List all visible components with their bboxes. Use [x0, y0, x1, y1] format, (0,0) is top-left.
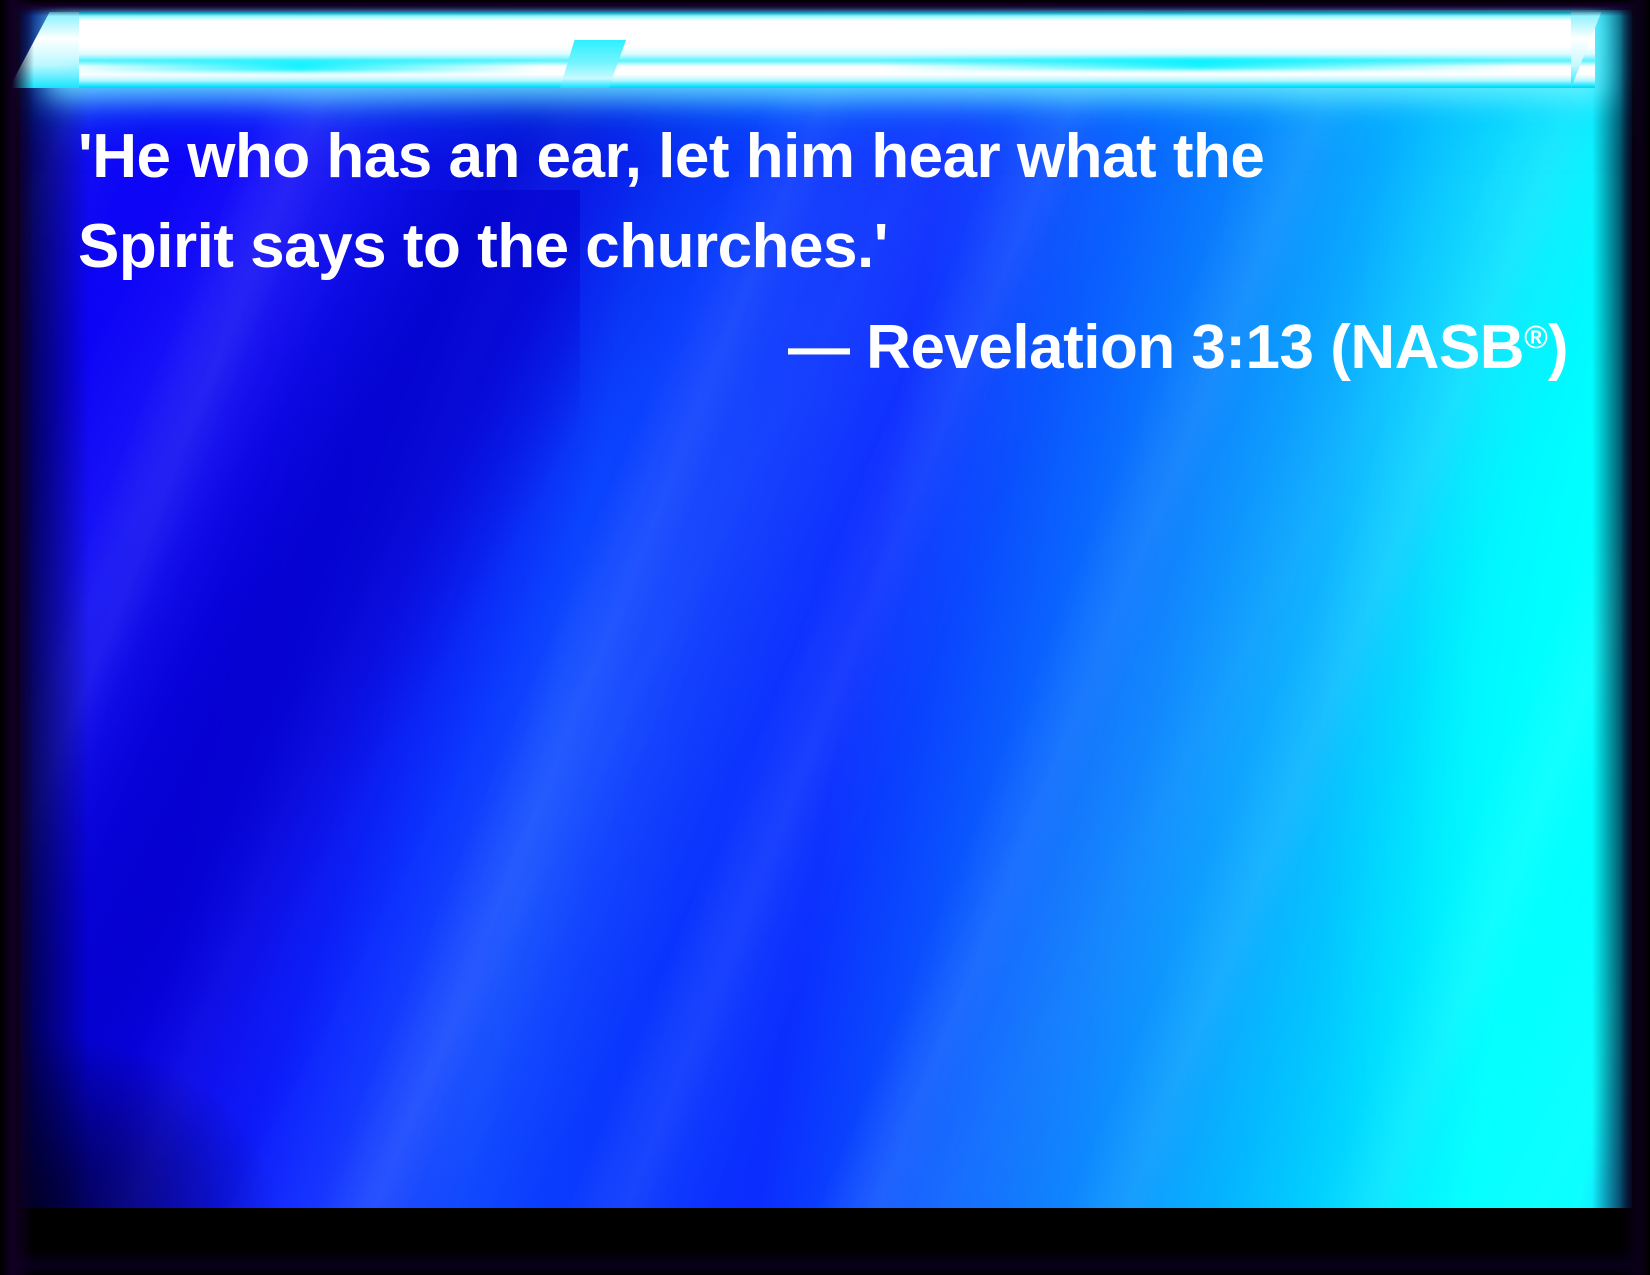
- attribution-close-paren: ): [1548, 313, 1568, 382]
- registered-trademark-icon: ®: [1524, 319, 1548, 355]
- top-highlight-band: [55, 12, 1595, 88]
- verse-attribution: — Revelation 3:13 (NASB®): [78, 292, 1578, 393]
- right-edge-shadow: [1592, 10, 1632, 1208]
- attribution-reference: — Revelation 3:13 (NASB: [788, 313, 1524, 382]
- verse-text-block: 'He who has an ear, let him hear what th…: [78, 112, 1578, 393]
- band-wisp-right: [880, 58, 1520, 70]
- verse-line-1: 'He who has an ear, let him hear what th…: [78, 112, 1578, 202]
- band-wisp-left: [60, 60, 540, 72]
- bible-verse-slide: 'He who has an ear, let him hear what th…: [0, 0, 1650, 1275]
- verse-line-2: Spirit says to the churches.': [78, 202, 1578, 292]
- bottom-left-shadow: [20, 1028, 280, 1208]
